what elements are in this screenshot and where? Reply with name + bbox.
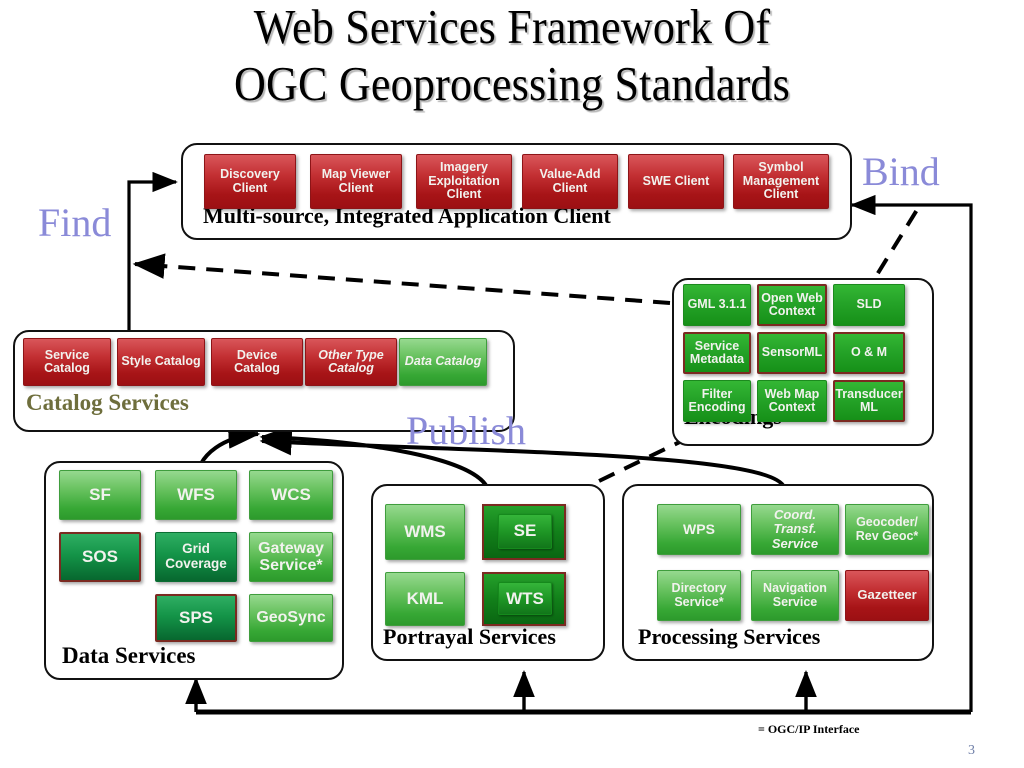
portrayal-box-se-label: SE: [514, 521, 537, 541]
data-box-wfs-label: WFS: [177, 486, 215, 504]
client-box-map-viewer[interactable]: Map Viewer Client: [310, 154, 402, 209]
processing-box-coord-transf-service-label: Coord. Transf. Service: [754, 508, 836, 550]
client-box-swe[interactable]: SWE Client: [628, 154, 724, 209]
processing-box-gazetteer[interactable]: Gazetteer: [845, 570, 929, 621]
data-box-grid-coverage[interactable]: Grid Coverage: [155, 532, 237, 582]
encodings-box-filter-encoding-label: Filter Encoding: [686, 388, 748, 415]
encodings-box-gml[interactable]: GML 3.1.1: [683, 284, 751, 326]
encodings-box-sensorml-label: SensorML: [762, 346, 822, 360]
flow-label-find: Find: [38, 203, 111, 243]
data-box-geosync-label: GeoSync: [256, 609, 325, 626]
portrayal-box-wms-label: WMS: [404, 523, 446, 541]
portrayal-box-wts[interactable]: WTS: [482, 572, 566, 626]
data-box-gateway-service[interactable]: Gateway Service*: [249, 532, 333, 582]
slide-canvas: Web Services Framework Of OGC Geoprocess…: [0, 0, 1024, 768]
flow-label-bind: Bind: [862, 152, 940, 192]
encodings-box-web-map-context-label: Web Map Context: [760, 388, 824, 415]
data-box-wcs[interactable]: WCS: [249, 470, 333, 520]
data-box-grid-coverage-label: Grid Coverage: [158, 542, 234, 571]
processing-box-geocoder-rev-geoc[interactable]: Geocoder/ Rev Geoc*: [845, 504, 929, 555]
data-box-sos[interactable]: SOS: [59, 532, 141, 582]
page-number: 3: [968, 743, 975, 759]
catalog-box-data[interactable]: Data Catalog: [399, 338, 487, 386]
catalog-box-style-label: Style Catalog: [121, 355, 200, 369]
portrayal-box-wms[interactable]: WMS: [385, 504, 465, 560]
processing-box-geocoder-rev-geoc-label: Geocoder/ Rev Geoc*: [848, 516, 926, 543]
find-arrow: [129, 182, 176, 340]
encodings-box-service-metadata[interactable]: Service Metadata: [683, 332, 751, 374]
data-box-sos-label: SOS: [82, 548, 118, 566]
portrayal-box-kml[interactable]: KML: [385, 572, 465, 626]
encodings-box-open-web-context-label: Open Web Context: [761, 292, 823, 319]
processing-box-gazetteer-label: Gazetteer: [857, 588, 916, 602]
group-processing-services-label: Processing Services: [638, 624, 820, 650]
encodings-box-open-web-context[interactable]: Open Web Context: [757, 284, 827, 326]
portrayal-box-wts-label: WTS: [506, 589, 544, 609]
page-title: Web Services Framework Of OGC Geoprocess…: [51, 0, 973, 112]
data-box-sps[interactable]: SPS: [155, 594, 237, 642]
encodings-box-o-and-m[interactable]: O & M: [833, 332, 905, 374]
encodings-box-service-metadata-label: Service Metadata: [687, 340, 747, 367]
client-box-discovery-label: Discovery Client: [207, 168, 293, 195]
title-line-2: OGC Geoprocessing Standards: [51, 55, 973, 112]
group-portrayal-services-label: Portrayal Services: [383, 624, 556, 650]
catalog-box-other-type-label: Other Type Catalog: [308, 349, 394, 376]
encodings-box-transducer-ml-label: Transducer ML: [835, 388, 902, 415]
catalog-box-device-label: Device Catalog: [214, 349, 300, 376]
data-box-geosync[interactable]: GeoSync: [249, 594, 333, 642]
encodings-box-web-map-context[interactable]: Web Map Context: [757, 380, 827, 422]
data-box-sps-label: SPS: [179, 609, 213, 627]
catalog-box-other-type[interactable]: Other Type Catalog: [305, 338, 397, 386]
data-box-wcs-label: WCS: [271, 486, 311, 504]
data-box-gateway-service-label: Gateway Service*: [252, 540, 330, 575]
find-dashed-arrow: [135, 264, 670, 303]
processing-box-wps-label: WPS: [683, 522, 715, 537]
processing-box-directory-service[interactable]: Directory Service*: [657, 570, 741, 621]
processing-box-wps[interactable]: WPS: [657, 504, 741, 555]
processing-box-navigation-service-label: Navigation Service: [754, 582, 836, 609]
encodings-box-sensorml[interactable]: SensorML: [757, 332, 827, 374]
processing-box-directory-service-label: Directory Service*: [660, 582, 738, 609]
catalog-box-data-label: Data Catalog: [405, 355, 481, 369]
catalog-box-service-label: Service Catalog: [26, 349, 108, 376]
legend-ogc-ip-interface: = OGC/IP Interface: [758, 722, 859, 737]
processing-box-navigation-service[interactable]: Navigation Service: [751, 570, 839, 621]
processing-box-coord-transf-service[interactable]: Coord. Transf. Service: [751, 504, 839, 555]
portrayal-box-kml-label: KML: [407, 590, 444, 608]
client-box-imagery-exploitation[interactable]: Imagery Exploitation Client: [416, 154, 512, 209]
encodings-box-sld-label: SLD: [857, 298, 882, 312]
group-catalog-label: Catalog Services: [26, 390, 189, 416]
portrayal-box-se[interactable]: SE: [482, 504, 566, 560]
client-box-imagery-exploitation-label: Imagery Exploitation Client: [419, 161, 509, 202]
client-box-symbol-management-label: Symbol Management Client: [736, 161, 826, 202]
client-box-value-add-label: Value-Add Client: [525, 168, 615, 195]
client-box-discovery[interactable]: Discovery Client: [204, 154, 296, 209]
client-box-swe-label: SWE Client: [643, 175, 710, 189]
encodings-box-filter-encoding[interactable]: Filter Encoding: [683, 380, 751, 422]
catalog-box-style[interactable]: Style Catalog: [117, 338, 205, 386]
flow-label-publish: Publish: [406, 411, 526, 451]
data-box-sf-label: SF: [89, 486, 111, 504]
client-box-symbol-management[interactable]: Symbol Management Client: [733, 154, 829, 209]
data-box-sf[interactable]: SF: [59, 470, 141, 520]
encodings-box-transducer-ml[interactable]: Transducer ML: [833, 380, 905, 422]
data-box-wfs[interactable]: WFS: [155, 470, 237, 520]
client-box-value-add[interactable]: Value-Add Client: [522, 154, 618, 209]
catalog-box-device[interactable]: Device Catalog: [211, 338, 303, 386]
group-data-services-label: Data Services: [62, 643, 196, 669]
encodings-box-o-and-m-label: O & M: [851, 346, 887, 360]
catalog-box-service[interactable]: Service Catalog: [23, 338, 111, 386]
title-line-1: Web Services Framework Of: [254, 0, 771, 54]
encodings-box-gml-label: GML 3.1.1: [688, 298, 747, 312]
client-box-map-viewer-label: Map Viewer Client: [313, 168, 399, 195]
encodings-box-sld[interactable]: SLD: [833, 284, 905, 326]
